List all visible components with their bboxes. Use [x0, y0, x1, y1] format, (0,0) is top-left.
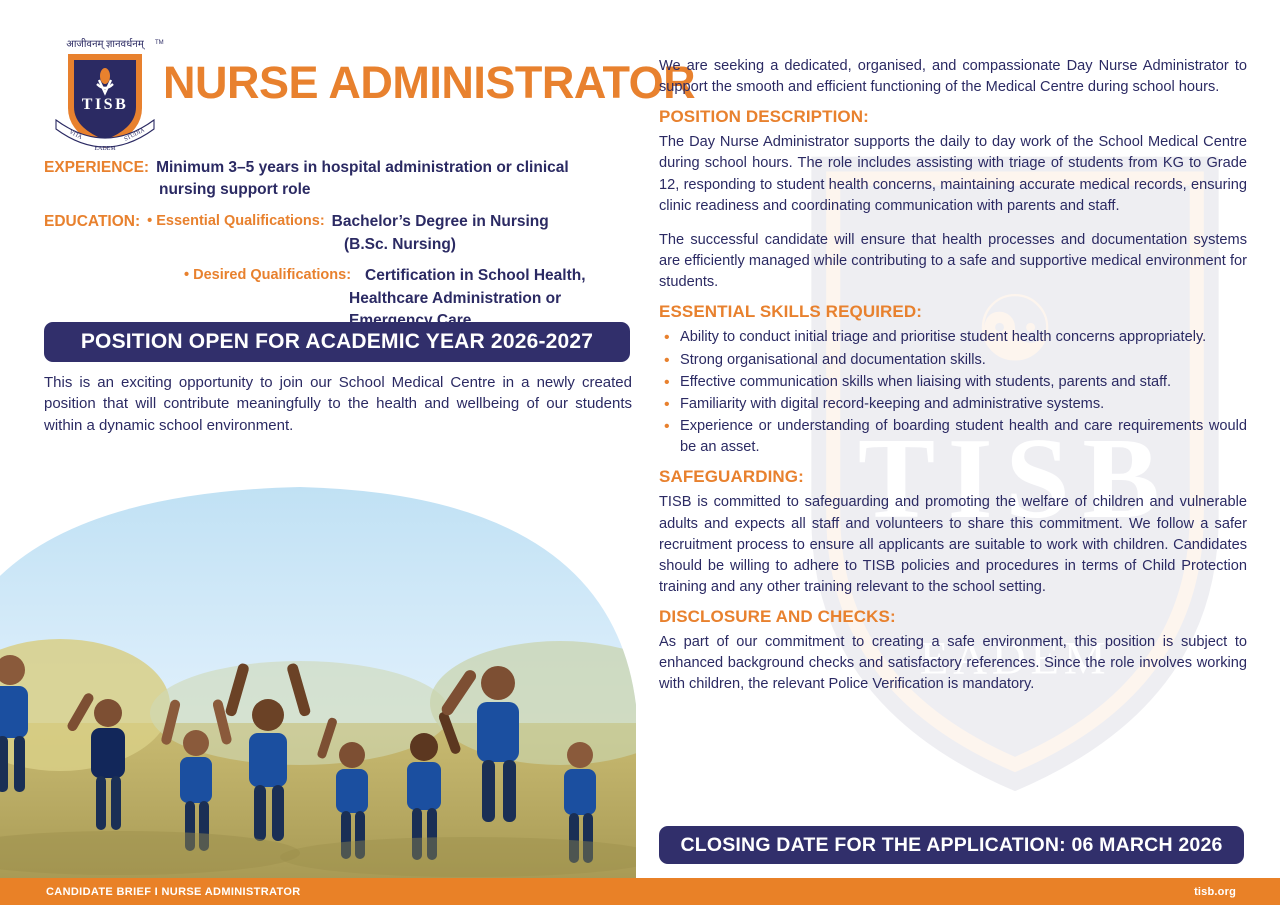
paragraph-spacer [659, 217, 1247, 230]
essential-skills-heading: ESSENTIAL SKILLS REQUIRED: [659, 302, 1247, 322]
list-item: Ability to conduct initial triage and pr… [659, 327, 1247, 348]
essential-qualifications-label: • Essential Qualifications: [147, 212, 325, 231]
essential-skills-list: Ability to conduct initial triage and pr… [659, 327, 1247, 458]
disclosure-heading: DISCLOSURE AND CHECKS: [659, 607, 1247, 627]
footer-website-link[interactable]: tisb.org [1194, 886, 1236, 898]
safeguarding-paragraph: TISB is committed to safeguarding and pr… [659, 492, 1247, 598]
footer-bar: CANDIDATE BRIEF I NURSE ADMINISTRATOR ti… [0, 878, 1280, 905]
desired-value-line2: Healthcare Administration or [349, 289, 561, 310]
education-essential-row-cont: (B.Sc. Nursing) [44, 235, 644, 256]
logo-trademark-icon: TM [155, 40, 164, 46]
essential-value-line1: Bachelor’s Degree in Nursing [332, 212, 549, 233]
education-block: EDUCATION: • Essential Qualifications: B… [44, 212, 644, 255]
svg-text:EADEM: EADEM [94, 146, 116, 152]
page-title: NURSE ADMINISTRATOR [163, 60, 695, 105]
desired-value-line1: Certification in School Health, [365, 266, 585, 287]
list-item: Effective communication skills when liai… [659, 372, 1247, 393]
experience-row-cont: nursing support role [44, 180, 644, 200]
education-essential-row: EDUCATION: • Essential Qualifications: B… [44, 212, 644, 233]
list-item: Experience or understanding of boarding … [659, 416, 1247, 458]
experience-row: EXPERIENCE: Minimum 3–5 years in hospita… [44, 158, 644, 178]
disclosure-paragraph: As part of our commitment to creating a … [659, 632, 1247, 695]
experience-value-line2: nursing support role [159, 180, 311, 200]
tisb-logo: आजीवनम् ज्ञानवर्धनम् TM TISB VITA EADEM … [42, 36, 168, 158]
list-item: Strong organisational and documentation … [659, 350, 1247, 371]
left-column: EXPERIENCE: Minimum 3–5 years in hospita… [44, 158, 644, 334]
education-label: EDUCATION: [44, 212, 140, 232]
candidate-brief-page: ☯ TISB EADEM आजीवनम् ज्ञानवर्धनम् TM TIS… [0, 0, 1280, 905]
position-description-heading: POSITION DESCRIPTION: [659, 107, 1247, 127]
desired-row-cont1: Healthcare Administration or [44, 289, 644, 310]
desired-row: • Desired Qualifications: Certification … [44, 266, 644, 287]
lead-paragraph: We are seeking a dedicated, organised, a… [659, 56, 1247, 98]
students-jumping-photo [0, 455, 648, 880]
experience-label: EXPERIENCE: [44, 158, 149, 178]
logo-sanskrit-text: आजीवनम् ज्ञानवर्धनम् [66, 38, 146, 50]
desired-qualifications-label: • Desired Qualifications: [184, 266, 351, 285]
safeguarding-heading: SAFEGUARDING: [659, 467, 1247, 487]
experience-value-line1: Minimum 3–5 years in hospital administra… [156, 158, 569, 178]
intro-paragraph: This is an exciting opportunity to join … [44, 372, 632, 436]
footer-candidate-brief-label: CANDIDATE BRIEF I NURSE ADMINISTRATOR [46, 886, 301, 898]
closing-date-banner: CLOSING DATE FOR THE APPLICATION: 06 MAR… [659, 826, 1244, 864]
svg-text:TISB: TISB [82, 96, 128, 113]
right-column: We are seeking a dedicated, organised, a… [659, 56, 1247, 696]
position-description-paragraph-1: The Day Nurse Administrator supports the… [659, 132, 1247, 217]
list-item: Familiarity with digital record-keeping … [659, 394, 1247, 415]
essential-value-line2: (B.Sc. Nursing) [344, 235, 456, 256]
position-open-banner: POSITION OPEN FOR ACADEMIC YEAR 2026-202… [44, 322, 630, 362]
position-description-paragraph-2: The successful candidate will ensure tha… [659, 230, 1247, 293]
